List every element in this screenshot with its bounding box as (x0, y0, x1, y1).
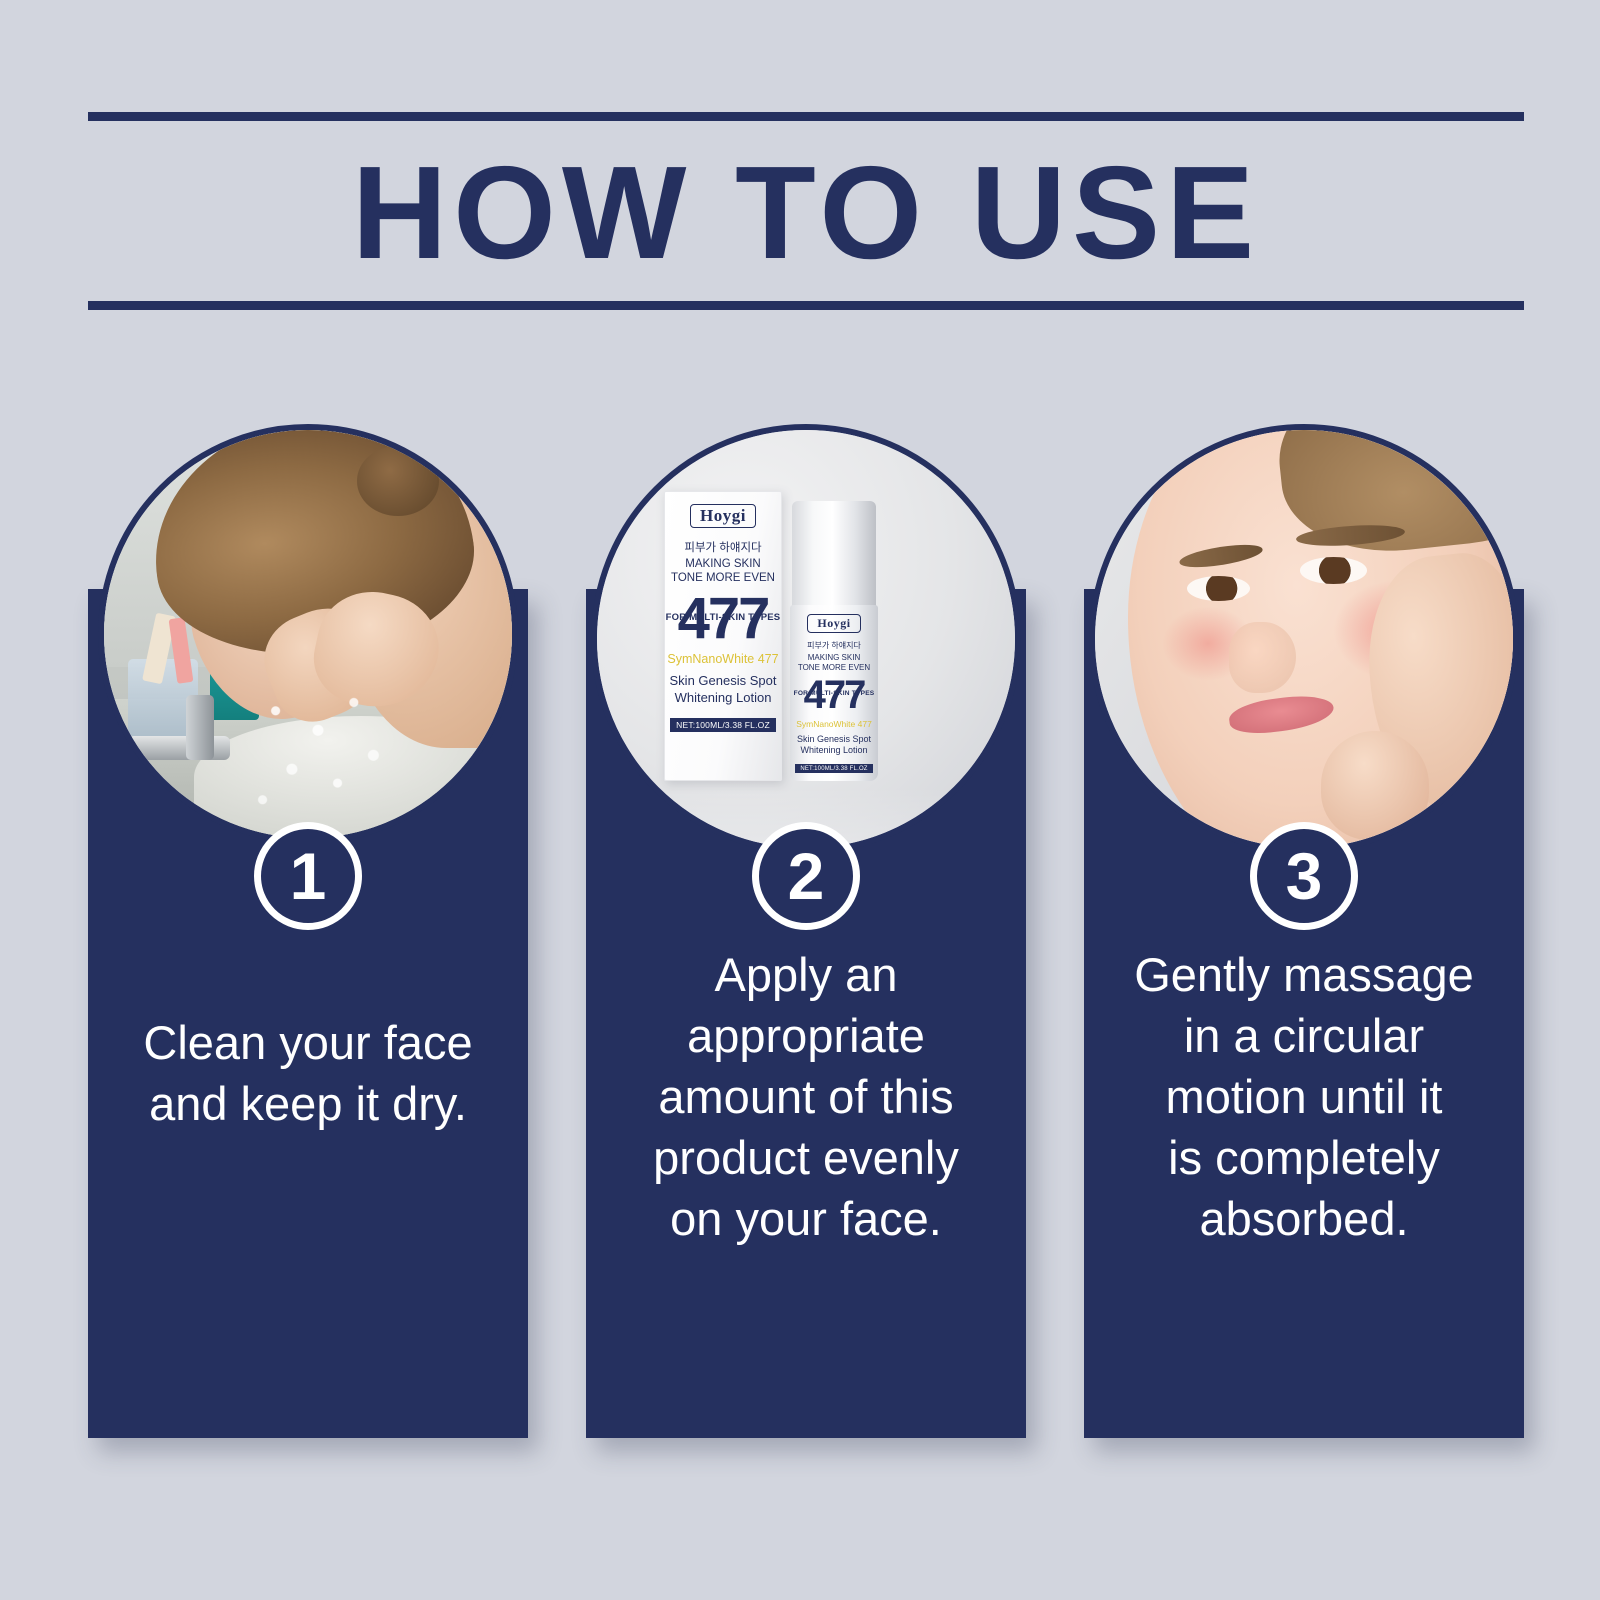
step-3-image (1089, 424, 1519, 854)
step-1-image (98, 424, 518, 844)
steps-container: 1 Clean your face and keep it dry. Hoygi… (88, 424, 1524, 1444)
product-bottle: Hoygi 피부가 하얘지다 MAKING SKIN TONE MORE EVE… (786, 501, 882, 787)
step-3-number-badge: 3 (1250, 822, 1358, 930)
step-2-caption: Apply an appropriate amount of this prod… (600, 944, 1012, 1249)
face-massage-illustration (1095, 430, 1513, 848)
step-3-caption: Gently massage in a circular motion unti… (1098, 944, 1510, 1249)
big-number-bottle: 477 FOR MULTI-SKIN TYPES (804, 678, 865, 712)
step-card-1: 1 Clean your face and keep it dry. (88, 424, 528, 1438)
washing-face-illustration (104, 430, 512, 838)
step-1-number-badge: 1 (254, 822, 362, 930)
multi-skin-text-bottle: FOR MULTI-SKIN TYPES (794, 692, 875, 698)
step-2-number-badge: 2 (752, 822, 860, 930)
product-name-line2-bottle: Whitening Lotion (800, 745, 867, 756)
product-group: Hoygi 피부가 하얘지다 MAKING SKIN TONE MORE EVE… (656, 497, 956, 797)
multi-skin-text-carton: FOR MULTI-SKIN TYPES (666, 614, 781, 622)
bottle-body: Hoygi 피부가 하얘지다 MAKING SKIN TONE MORE EVE… (790, 605, 878, 781)
product-photo-illustration: Hoygi 피부가 하얘지다 MAKING SKIN TONE MORE EVE… (597, 430, 1015, 848)
net-weight-bottle: NET:100ML/3.38 FL.OZ (795, 764, 872, 773)
step-1-caption: Clean your face and keep it dry. (102, 1012, 514, 1134)
product-carton: Hoygi 피부가 하얘지다 MAKING SKIN TONE MORE EVE… (664, 491, 782, 781)
tagline-line2-carton: TONE MORE EVEN (671, 572, 775, 586)
step-2-image: Hoygi 피부가 하얘지다 MAKING SKIN TONE MORE EVE… (591, 424, 1021, 854)
bottle-cap (792, 501, 876, 609)
page-title: HOW TO USE (88, 121, 1524, 301)
step-card-3: 3 Gently massage in a circular motion un… (1084, 424, 1524, 1438)
product-name-line1-carton: Skin Genesis Spot (670, 673, 777, 689)
ingredient-carton: SymNanoWhite 477 (667, 652, 778, 666)
net-weight-carton: NET:100ML/3.38 FL.OZ (670, 718, 776, 732)
step-card-2: Hoygi 피부가 하얘지다 MAKING SKIN TONE MORE EVE… (586, 424, 1026, 1438)
page-header: HOW TO USE (88, 112, 1524, 310)
korean-tagline-bottle: 피부가 하얘지다 (807, 640, 861, 651)
big-number-carton: 477 FOR MULTI-SKIN TYPES (678, 594, 769, 644)
brand-logo-carton: Hoygi (690, 504, 756, 528)
product-name-line2-carton: Whitening Lotion (675, 690, 772, 706)
korean-tagline-carton: 피부가 하얘지다 (684, 539, 761, 555)
header-bottom-rule (88, 301, 1524, 310)
tagline-line2-bottle: TONE MORE EVEN (798, 663, 870, 672)
tagline-line1-bottle: MAKING SKIN (808, 653, 860, 662)
tagline-line1-carton: MAKING SKIN (685, 558, 760, 572)
product-name-line1-bottle: Skin Genesis Spot (797, 734, 871, 745)
header-top-rule (88, 112, 1524, 121)
brand-logo-bottle: Hoygi (807, 614, 860, 633)
ingredient-bottle: SymNanoWhite 477 (796, 719, 872, 729)
